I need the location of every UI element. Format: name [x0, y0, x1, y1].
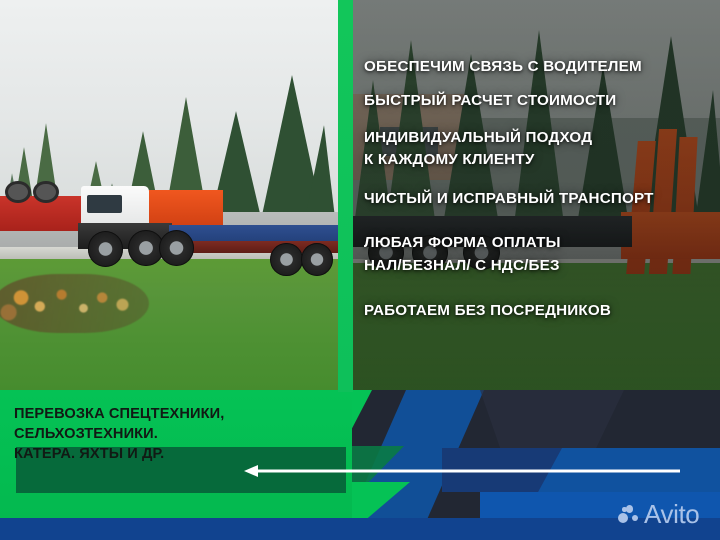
left-pointing-arrow — [244, 465, 680, 477]
feature-item: РАБОТАЕМ БЕЗ ПОСРЕДНИКОВ — [364, 302, 611, 319]
feature-item: НАЛ/БЕЗНАЛ/ С НДС/БЕЗ — [364, 257, 560, 274]
banner-line: ПЕРЕВОЗКА СПЕЦТЕХНИКИ, — [14, 404, 224, 424]
flowerbed — [0, 274, 149, 333]
red-machinery-background — [0, 196, 88, 231]
avito-logo-icon — [618, 505, 639, 523]
feature-item: ИНДИВИДУАЛЬНЫЙ ПОДХОД — [364, 129, 592, 146]
banner-line: СЕЛЬХОЗТЕХНИКИ. — [14, 424, 224, 444]
feature-item: БЫСТРЫЙ РАСЧЕТ СТОИМОСТИ — [364, 92, 616, 109]
trailer-wheel — [270, 243, 302, 276]
vertical-green-divider — [338, 0, 353, 392]
advertisement-image: ОБЕСПЕЧИМ СВЯЗЬ С ВОДИТЕЛЕМ БЫСТРЫЙ РАСЧ… — [0, 0, 720, 540]
service-features-list: ОБЕСПЕЧИМ СВЯЗЬ С ВОДИТЕЛЕМ БЫСТРЫЙ РАСЧ… — [353, 0, 720, 392]
truck-wheel — [159, 230, 194, 266]
feature-item: ОБЕСПЕЧИМ СВЯЗЬ С ВОДИТЕЛЕМ — [364, 58, 642, 75]
bottom-blue-bar — [0, 518, 720, 540]
trailer-wheel — [301, 243, 333, 276]
feature-item: К КАЖДОМУ КЛИЕНТУ — [364, 151, 534, 168]
truck-with-lowboy-trailer-photo — [0, 0, 338, 392]
feature-item: ЛЮБАЯ ФОРМА ОПЛАТЫ — [364, 234, 561, 251]
banner-line: КАТЕРА. ЯХТЫ И ДР. — [14, 444, 224, 464]
avito-watermark: Avito — [618, 501, 699, 527]
avito-wordmark: Avito — [644, 501, 699, 527]
services-banner: ПЕРЕВОЗКА СПЕЦТЕХНИКИ, СЕЛЬХОЗТЕХНИКИ. К… — [14, 404, 224, 464]
truck-wheel — [88, 231, 123, 266]
feature-item: ЧИСТЫЙ И ИСПРАВНЫЙ ТРАНСПОРТ — [364, 190, 654, 207]
